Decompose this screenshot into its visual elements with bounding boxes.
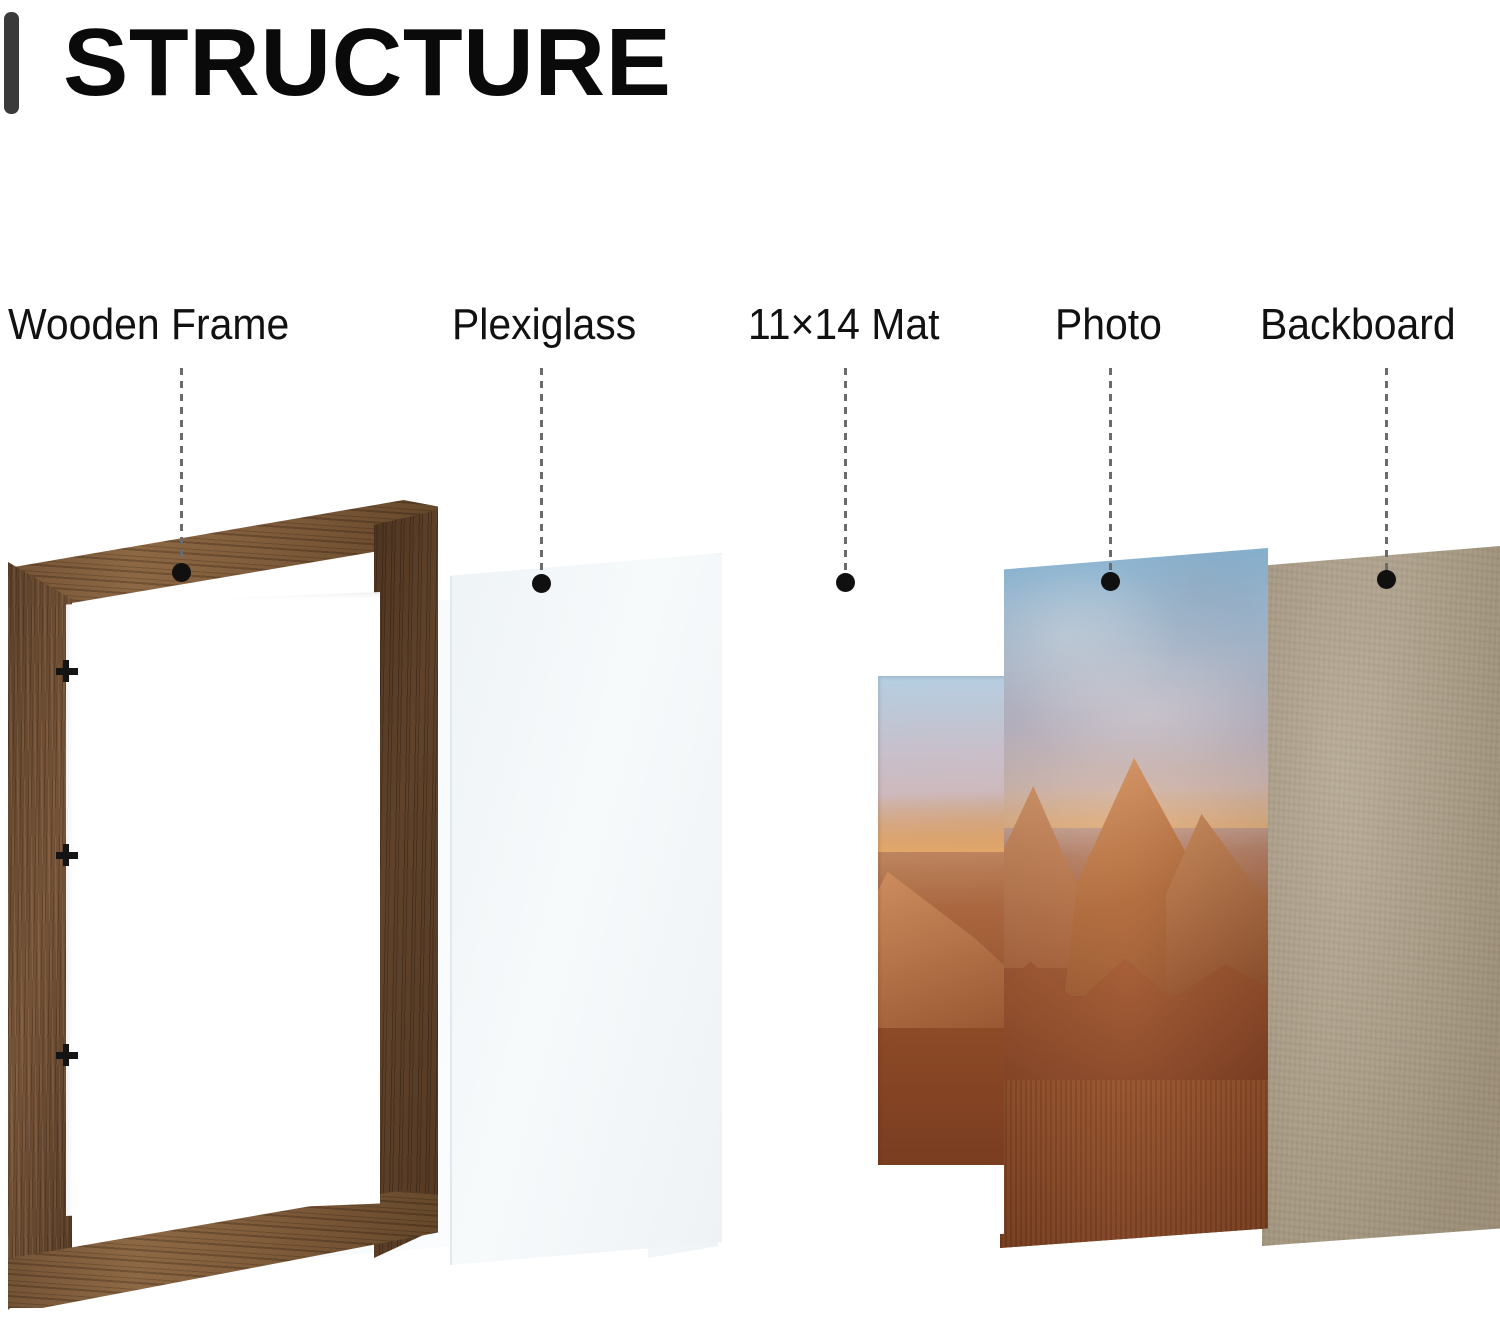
label-backboard: Backboard bbox=[1260, 303, 1456, 347]
leader-plexiglass bbox=[540, 368, 543, 584]
leader-dot-backboard bbox=[1377, 570, 1396, 589]
leader-dot-plexiglass bbox=[532, 574, 551, 593]
leader-dash bbox=[1385, 368, 1388, 580]
infographic-canvas: STRUCTURE Wooden Frame Plexiglass 11×14 … bbox=[0, 0, 1500, 1320]
label-mat: 11×14 Mat bbox=[748, 303, 939, 347]
frame-clip-middle-stem bbox=[63, 844, 69, 866]
mat-bar-left bbox=[704, 540, 878, 1258]
leader-wooden-frame bbox=[180, 368, 183, 573]
layer-plexiglass bbox=[450, 553, 722, 1265]
layer-photo bbox=[1000, 548, 1268, 1248]
leader-mat bbox=[844, 368, 847, 583]
frame-clip-upper-stem bbox=[63, 660, 69, 682]
leader-dash bbox=[1109, 368, 1112, 582]
frame-rail-right bbox=[374, 510, 438, 1258]
leader-dot-mat bbox=[836, 573, 855, 592]
leader-dot-wooden-frame bbox=[172, 563, 191, 582]
page-header: STRUCTURE bbox=[0, 12, 659, 114]
frame-clip-lower-stem bbox=[63, 1044, 69, 1066]
layer-wooden-frame bbox=[8, 500, 438, 1310]
leader-backboard bbox=[1385, 368, 1388, 580]
leader-dot-photo bbox=[1101, 572, 1120, 591]
layer-backboard bbox=[1262, 546, 1500, 1246]
label-plexiglass: Plexiglass bbox=[452, 303, 636, 347]
photo-light-overlay bbox=[1000, 548, 1268, 1248]
frame-inner-opening bbox=[66, 592, 380, 1216]
title-accent-bar bbox=[4, 12, 19, 114]
leader-photo bbox=[1109, 368, 1112, 582]
label-photo: Photo bbox=[1055, 303, 1162, 347]
layer-mat bbox=[704, 540, 1004, 1258]
frame-rail-top bbox=[8, 500, 438, 608]
page-title: STRUCTURE bbox=[63, 15, 671, 111]
leader-dash bbox=[540, 368, 543, 584]
leader-dash bbox=[844, 368, 847, 583]
label-wooden-frame: Wooden Frame bbox=[8, 303, 289, 347]
leader-dash bbox=[180, 368, 183, 573]
